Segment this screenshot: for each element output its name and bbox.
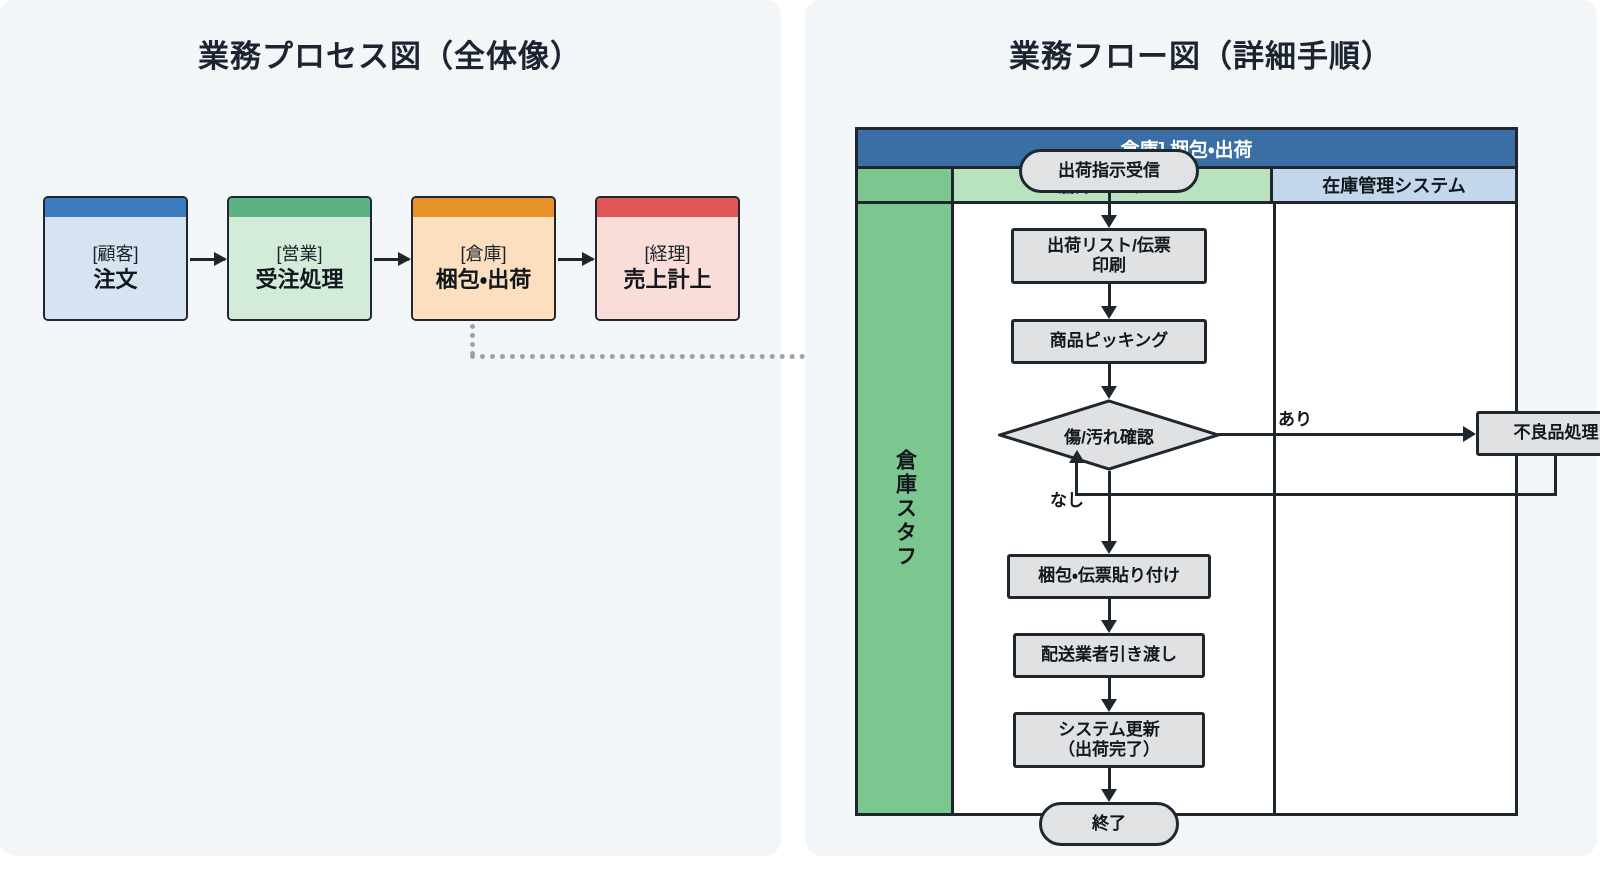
step-body-accounting: [経理] 売上計上: [597, 217, 738, 319]
step-cap-customer: [45, 198, 186, 217]
edge-defect-loop-left: [1075, 493, 1557, 496]
step-actor-label: [顧客]: [92, 244, 138, 265]
diagram-canvas: 業務プロセス図（全体像） [顧客] 注文 [営業] 受注処理 [倉庫] 梱包・出…: [0, 0, 1600, 873]
column-header-spacer: [858, 169, 954, 204]
arrowhead-down-icon: [1101, 620, 1117, 633]
step-actor-label: [倉庫]: [460, 244, 506, 265]
arrowhead-up-icon: [1069, 450, 1085, 463]
step-name-label: 売上計上: [623, 267, 711, 292]
flow-node-system-update[interactable]: システム更新 （出荷完了）: [1013, 712, 1205, 768]
arrowhead-down-icon: [1101, 215, 1117, 228]
lane-divider: [1273, 204, 1276, 813]
step-cap-accounting: [597, 198, 738, 217]
arrowhead-down-icon: [1101, 386, 1117, 399]
flow-node-carrier-handoff[interactable]: 配送業者引き渡し: [1013, 633, 1205, 678]
edge-defect-loop-down: [1554, 456, 1557, 496]
drilldown-connector-horizontal: [470, 354, 845, 359]
flow-node-end[interactable]: 終了: [1039, 802, 1179, 846]
step-body-customer: [顧客] 注文: [45, 217, 186, 319]
detailed-flow-panel: 業務フロー図（詳細手順） 倉庫] 梱包・出荷 倉庫スタッフ 在庫管理システム 倉…: [806, 0, 1596, 855]
step-actor-label: [営業]: [276, 244, 322, 265]
flow-node-picking[interactable]: 商品ピッキング: [1011, 319, 1207, 364]
step-body-sales: [営業] 受注処理: [229, 217, 370, 319]
edge-picking-to-check: [1108, 364, 1111, 388]
arrowhead-down-icon: [1101, 541, 1117, 554]
process-overview-panel: 業務プロセス図（全体像） [顧客] 注文 [営業] 受注処理 [倉庫] 梱包・出…: [0, 0, 780, 855]
arrowhead-down-icon: [1101, 699, 1117, 712]
step-name-label: 受注処理: [255, 267, 343, 292]
drilldown-connector-vertical: [470, 324, 475, 356]
process-step-customer[interactable]: [顧客] 注文: [43, 196, 188, 321]
left-panel-title: 業務プロセス図（全体像）: [0, 38, 780, 75]
process-step-accounting[interactable]: [経理] 売上計上: [595, 196, 740, 321]
edge-check-no-to-pack: [1108, 471, 1111, 543]
process-step-sales[interactable]: [営業] 受注処理: [227, 196, 372, 321]
flow-node-damage-check[interactable]: 傷/汚れ確認: [998, 399, 1220, 471]
swimlane-actor-label: 倉庫スタフ: [890, 449, 920, 569]
step-body-warehouse: [倉庫] 梱包・出荷: [413, 217, 554, 319]
right-panel-title: 業務フロー図（詳細手順）: [806, 38, 1596, 75]
flow-node-print-list[interactable]: 出荷リスト/伝票 印刷: [1011, 228, 1207, 284]
edge-check-yes-to-defect: [1218, 433, 1465, 436]
edge-start-to-print: [1108, 193, 1111, 217]
edge-handoff-to-update: [1108, 678, 1111, 701]
arrow-warehouse-to-accounting: [558, 258, 593, 261]
flow-node-start[interactable]: 出荷指示受信: [1019, 149, 1199, 193]
edge-label-no: なし: [1050, 486, 1084, 511]
flow-node-defect-handling[interactable]: 不良品処理: [1476, 411, 1600, 456]
step-cap-warehouse: [413, 198, 554, 217]
process-step-warehouse[interactable]: [倉庫] 梱包・出荷: [411, 196, 556, 321]
arrowhead-down-icon: [1101, 306, 1117, 319]
step-name-label: 梱包・出荷: [436, 267, 531, 292]
edge-label-yes: あり: [1278, 405, 1312, 430]
swimlane-frame: 倉庫] 梱包・出荷 倉庫スタッフ 在庫管理システム 倉庫スタフ 出荷指示受信 出…: [855, 127, 1518, 816]
arrowhead-right-icon: [1463, 426, 1476, 442]
swimlane-actor-strip: 倉庫スタフ: [858, 204, 954, 813]
edge-print-to-picking: [1108, 284, 1111, 308]
step-cap-sales: [229, 198, 370, 217]
flow-node-damage-check-label: 傷/汚れ確認: [998, 399, 1220, 471]
flow-node-packing[interactable]: 梱包・伝票貼り付け: [1007, 554, 1211, 599]
arrowhead-down-icon: [1101, 789, 1117, 802]
edge-pack-to-handoff: [1108, 599, 1111, 622]
arrow-sales-to-warehouse: [374, 258, 409, 261]
step-name-label: 注文: [93, 267, 137, 292]
edge-update-to-end: [1108, 768, 1111, 791]
arrow-customer-to-sales: [190, 258, 225, 261]
column-header-inventory-system: 在庫管理システム: [1273, 169, 1515, 204]
step-actor-label: [経理]: [644, 244, 690, 265]
